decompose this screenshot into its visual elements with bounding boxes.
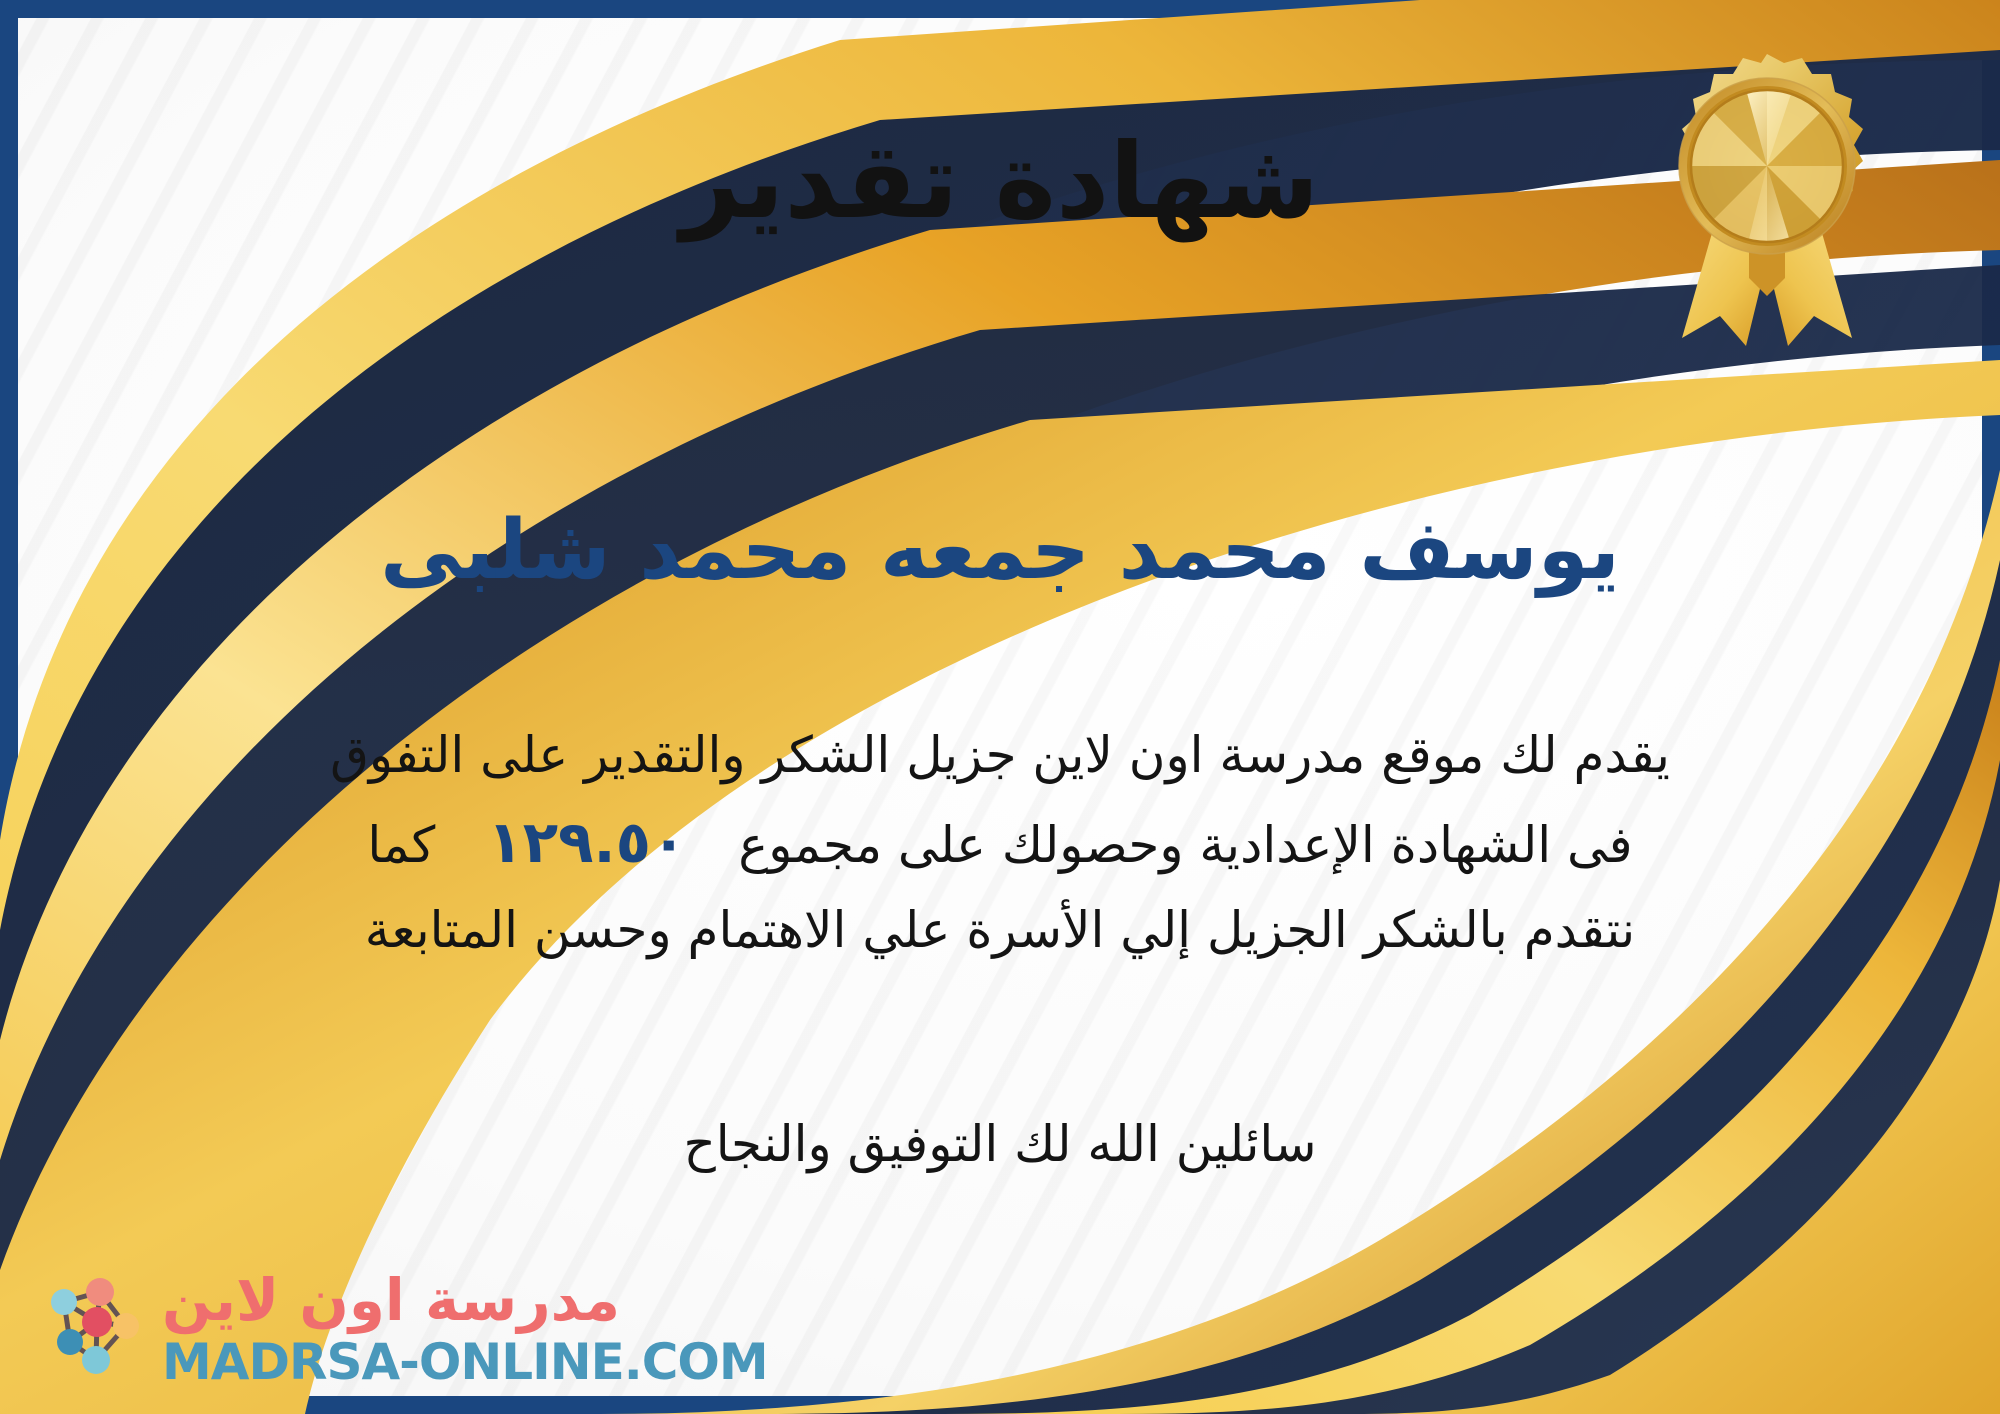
body-line-1: يقدم لك موقع مدرسة اون لاين جزيل الشكر و… <box>55 715 1945 796</box>
brand-arabic-name: مدرسة اون لاين <box>162 1271 620 1329</box>
body-line-2-suffix: كما <box>367 816 435 874</box>
network-nodes-icon <box>34 1270 152 1388</box>
brand-text: مدرسة اون لاين MADRSA-ONLINE.COM <box>162 1271 768 1387</box>
brand-logo[interactable]: مدرسة اون لاين MADRSA-ONLINE.COM <box>34 1270 768 1388</box>
certificate-canvas: شهادة تقدير يوسف محمد جمعه محمد شلبى يقد… <box>0 0 2000 1414</box>
recipient-name: يوسف محمد جمعه محمد شلبى <box>120 500 1880 603</box>
body-line-3: نتقدم بالشكر الجزيل إلي الأسرة علي الاهت… <box>55 890 1945 971</box>
body-line-2: فى الشهادة الإعدادية وحصولك على مجموع١٢٩… <box>55 796 1945 890</box>
page-title: شهادة تقدير <box>0 124 2000 238</box>
body-paragraph: يقدم لك موقع مدرسة اون لاين جزيل الشكر و… <box>55 715 1945 971</box>
closing-line: سائلين الله لك التوفيق والنجاح <box>0 1115 2000 1173</box>
brand-website: MADRSA-ONLINE.COM <box>162 1337 768 1387</box>
total-score-value: ١٢٩.٥٠ <box>473 796 700 890</box>
certificate-content: شهادة تقدير يوسف محمد جمعه محمد شلبى يقد… <box>0 0 2000 1414</box>
body-line-2-prefix: فى الشهادة الإعدادية وحصولك على مجموع <box>738 816 1632 874</box>
